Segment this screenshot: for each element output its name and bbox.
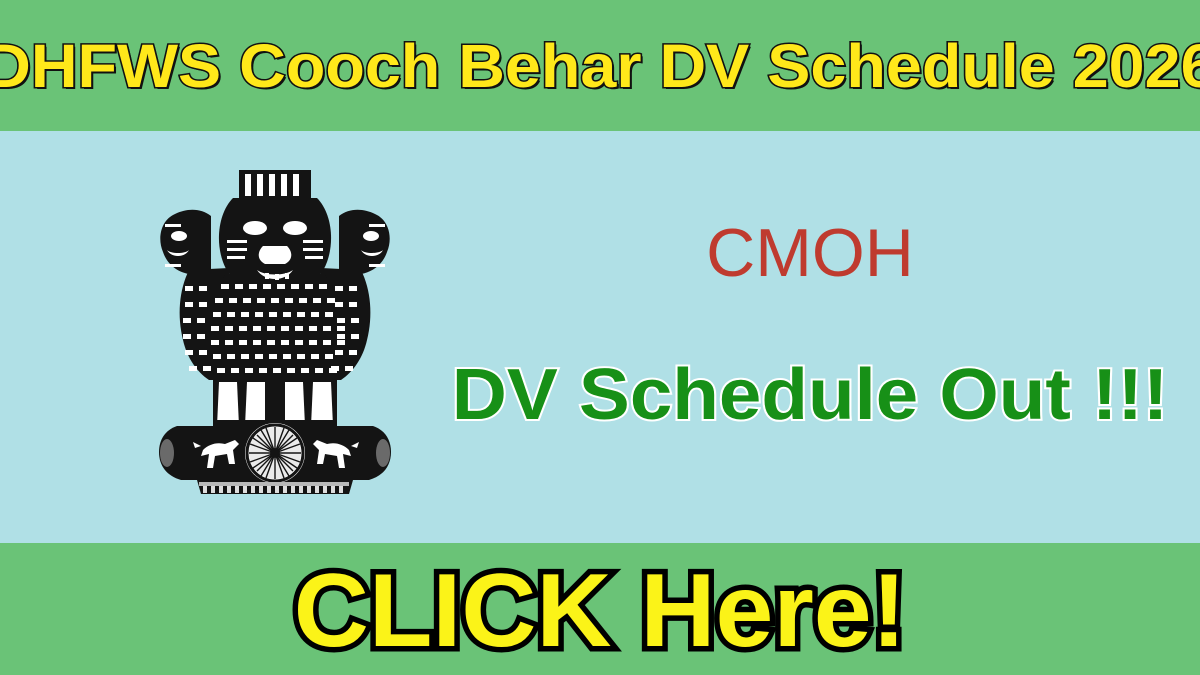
india-state-emblem-lion-capital-icon (153, 154, 397, 496)
promo-banner: DHFWS Cooch Behar DV Schedule 2026 (0, 0, 1200, 675)
announcement-headline: DV Schedule Out !!! (397, 359, 1200, 431)
content-area: CMOH DV Schedule Out !!! (0, 131, 1200, 543)
header-bar: DHFWS Cooch Behar DV Schedule 2026 (0, 0, 1200, 131)
page-title: DHFWS Cooch Behar DV Schedule 2026 (0, 36, 1200, 97)
click-here-button[interactable]: CLICK Here! (0, 543, 1200, 675)
click-here-label: CLICK Here! (294, 559, 907, 663)
organization-label: CMOH (420, 219, 1200, 287)
announcement-text-block: CMOH DV Schedule Out !!! (420, 131, 1200, 543)
